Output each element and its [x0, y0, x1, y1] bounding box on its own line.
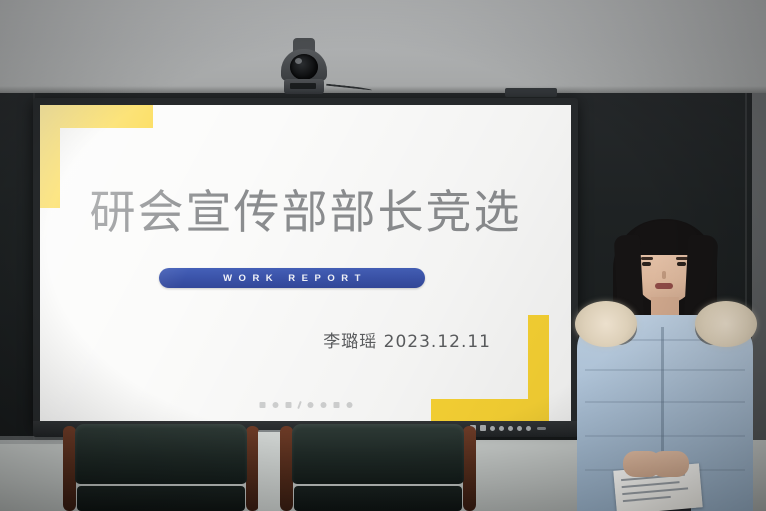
fur-hood-right	[695, 301, 757, 347]
chair-arm-right	[463, 426, 476, 511]
laser-icon[interactable]	[297, 401, 302, 409]
ir-sensor-icon	[537, 427, 546, 430]
pointer-icon[interactable]	[285, 402, 291, 408]
paper-text-line	[622, 481, 680, 488]
jacket-quilt-line	[585, 401, 745, 403]
eye-right	[677, 262, 686, 266]
jacket-quilt-line	[585, 369, 745, 371]
ptz-camera	[279, 38, 329, 96]
camera-label-strip	[290, 83, 316, 89]
home-button-icon[interactable]	[517, 426, 522, 431]
highlighter-icon[interactable]	[272, 402, 278, 408]
more-icon[interactable]	[346, 402, 352, 408]
work-report-band: WORK REPORT	[159, 268, 425, 288]
smart-display[interactable]: 研会宣传部部长竞选 WORK REPORT 李璐瑶 2023.12.11	[33, 98, 578, 428]
menu-button-icon[interactable]	[508, 426, 513, 431]
ceiling-bracket	[505, 88, 557, 97]
slide-title: 研会宣传部部长竞选	[40, 189, 571, 235]
chair-seat	[77, 486, 245, 511]
camera-lens-icon	[290, 54, 318, 80]
paper-text-line	[623, 496, 671, 502]
lecture-chair	[280, 424, 476, 511]
slide-author-line: 李璐瑶 2023.12.11	[323, 327, 491, 352]
source-button-icon[interactable]	[480, 425, 486, 431]
podium-edge	[0, 436, 63, 444]
presentation-slide[interactable]: 研会宣传部部长竞选 WORK REPORT 李璐瑶 2023.12.11	[40, 105, 571, 421]
classroom-scene: 研会宣传部部长竞选 WORK REPORT 李璐瑶 2023.12.11	[0, 0, 766, 511]
volume-down-button-icon[interactable]	[490, 426, 495, 431]
corner-bracket-bottom-right-vertical	[528, 315, 549, 421]
grid-icon[interactable]	[333, 402, 339, 408]
work-report-label: WORK REPORT	[217, 273, 367, 284]
jacket-quilt-line	[585, 435, 745, 437]
nose	[662, 271, 666, 279]
upper-wall	[0, 0, 766, 96]
display-button-cluster[interactable]	[470, 425, 531, 431]
back-button-icon[interactable]	[526, 426, 531, 431]
eye-left	[642, 262, 651, 266]
chair-gap-panel	[258, 432, 280, 511]
fur-hood-left	[575, 301, 637, 347]
eraser-icon[interactable]	[307, 402, 313, 408]
pen-icon[interactable]	[259, 402, 265, 408]
presenter-person	[577, 215, 753, 511]
chair-backrest	[292, 424, 464, 484]
chair-backrest	[75, 424, 247, 484]
paper-text-line	[622, 487, 688, 494]
screen-glare	[40, 105, 571, 421]
volume-up-button-icon[interactable]	[499, 426, 504, 431]
hand-right	[651, 451, 689, 477]
lecture-chair	[63, 424, 259, 511]
mouth	[655, 283, 673, 289]
eyebrow-left	[641, 257, 653, 260]
chair-seat	[294, 486, 462, 511]
presentation-toolbar[interactable]	[259, 401, 352, 409]
shape-icon[interactable]	[320, 402, 326, 408]
